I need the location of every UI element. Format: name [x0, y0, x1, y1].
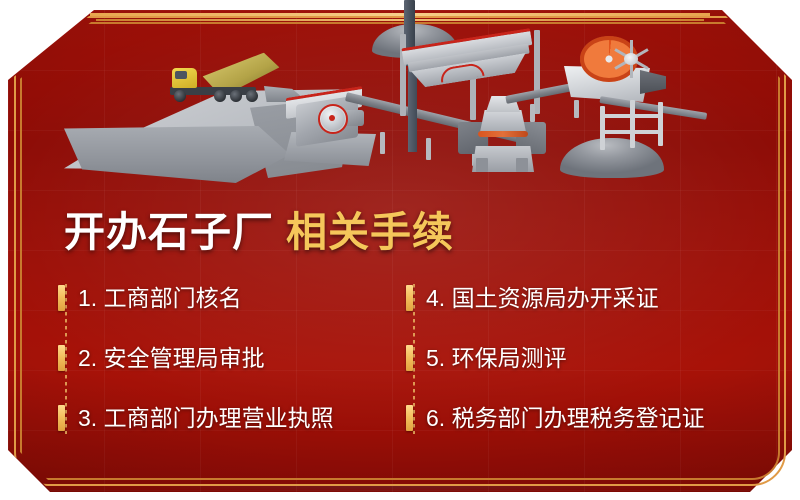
concrete-feed-ramp-front	[64, 126, 290, 188]
procedure-column-right: 4. 国土资源局办开采证 5. 环保局测评 6. 税务部门办理税务登记证	[406, 268, 756, 448]
wheel-sand-washer-icon	[556, 36, 668, 104]
procedure-column-left: 1. 工商部门核名 2. 安全管理局审批 3. 工商部门办理营业执照	[58, 268, 408, 448]
list-item-label: 6. 税务部门办理税务登记证	[426, 407, 705, 430]
procedure-list: 1. 工商部门核名 2. 安全管理局审批 3. 工商部门办理营业执照	[58, 268, 758, 458]
gold-bullet-marker	[406, 285, 413, 311]
production-line-illustration	[0, 0, 800, 200]
list-item-label: 4. 国土资源局办开采证	[426, 287, 659, 310]
truck-wheel	[214, 90, 226, 102]
gold-bullet-marker	[58, 285, 65, 311]
list-item-index: 3.	[78, 405, 97, 431]
gold-bullet-marker	[58, 345, 65, 371]
list-item[interactable]: 5. 环保局测评	[406, 328, 756, 388]
gold-bullet-marker	[406, 345, 413, 371]
list-item-index: 2.	[78, 345, 97, 371]
list-item[interactable]: 4. 国土资源局办开采证	[406, 268, 756, 328]
jaw-crusher-flywheel	[318, 104, 348, 134]
conveyor-support-frame	[600, 100, 700, 152]
list-item-label: 3. 工商部门办理营业执照	[78, 407, 334, 430]
list-item-index: 6.	[426, 405, 445, 431]
promotional-banner: 开办石子厂相关手续 1. 工商部门核名 2. 安全管理局审批	[0, 0, 800, 500]
list-item[interactable]: 3. 工商部门办理营业执照	[58, 388, 408, 448]
truck-wheel	[230, 90, 242, 102]
sand-washer-hub	[624, 53, 638, 65]
gold-bullet-marker	[58, 405, 65, 431]
banner-title: 开办石子厂相关手续	[64, 198, 454, 258]
list-item-index: 5.	[426, 345, 445, 371]
dump-truck-icon	[168, 60, 288, 106]
title-primary: 开办石子厂	[64, 209, 274, 255]
list-item-text: 工商部门办理营业执照	[104, 405, 334, 431]
truck-window	[175, 71, 187, 79]
cone-crusher-leg	[476, 158, 488, 172]
list-item[interactable]: 2. 安全管理局审批	[58, 328, 408, 388]
sand-washer-wheel	[580, 36, 638, 82]
gold-bullet-marker	[406, 405, 413, 431]
cone-crusher-orange-ring	[478, 131, 528, 137]
list-item-text: 环保局测评	[452, 345, 567, 371]
list-item-text: 工商部门核名	[104, 285, 242, 311]
list-item-index: 4.	[426, 285, 445, 311]
cone-crusher-cone	[480, 110, 526, 132]
list-item[interactable]: 1. 工商部门核名	[58, 268, 408, 328]
list-item-text: 税务部门办理税务登记证	[452, 405, 705, 431]
cone-crusher-leg	[516, 158, 528, 172]
list-item-text: 安全管理局审批	[104, 345, 265, 371]
truck-wheel	[246, 90, 258, 102]
title-accent: 相关手续	[286, 209, 454, 255]
sand-washer-drive	[640, 70, 666, 94]
list-item-label: 5. 环保局测评	[426, 347, 567, 370]
list-item[interactable]: 6. 税务部门办理税务登记证	[406, 388, 756, 448]
list-item-index: 1.	[78, 285, 97, 311]
list-item-text: 国土资源局办开采证	[452, 285, 659, 311]
list-item-label: 2. 安全管理局审批	[78, 347, 265, 370]
truck-wheel	[174, 90, 186, 102]
list-item-label: 1. 工商部门核名	[78, 287, 242, 310]
